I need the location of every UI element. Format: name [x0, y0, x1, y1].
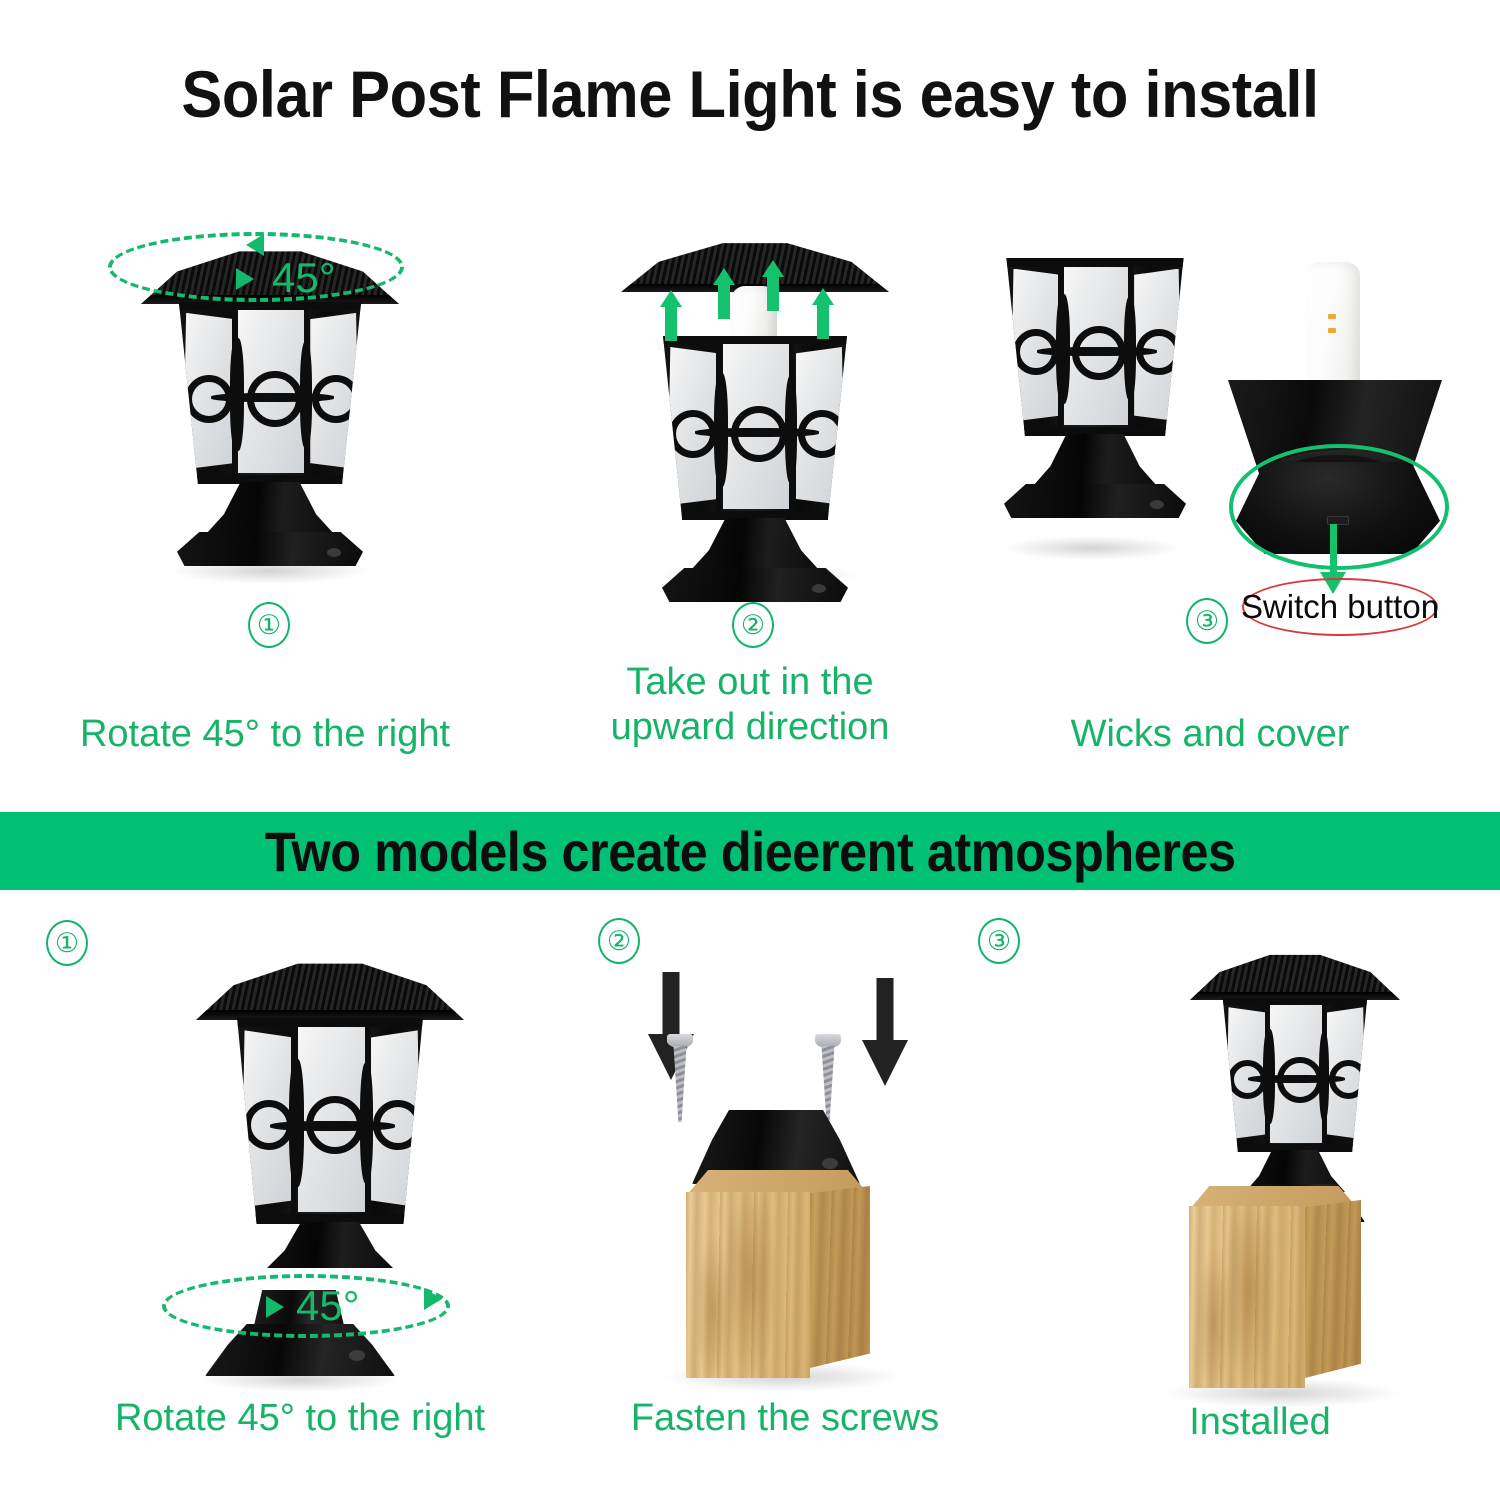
- post-side-face-inst: [1305, 1200, 1361, 1378]
- rotation-degree-label-step1: 45°: [272, 254, 336, 302]
- lamp-neck: [206, 482, 334, 534]
- wood-post-installed: [1175, 1168, 1395, 1398]
- ornament-crossbar-inst: [1248, 1075, 1345, 1083]
- lamp-shadow-3: [1002, 536, 1182, 560]
- screw-head-left: [667, 1034, 693, 1048]
- step-number-1: ①: [248, 602, 290, 648]
- lamp-roof-installed: [1190, 952, 1400, 1000]
- screw-head-right: [815, 1034, 841, 1048]
- lamp-foot: [177, 532, 363, 566]
- led-wick-1: [1328, 314, 1336, 319]
- lamp-roof-detached: [621, 240, 889, 292]
- section-banner: Two models create dieerent atmospheres: [0, 812, 1500, 890]
- mullion-top-inst: [1218, 998, 1373, 1005]
- ornament-crossbar-s2: [270, 1121, 395, 1131]
- lamp-foot-2: [662, 568, 848, 602]
- rotation-arrow-right-s2: [266, 1296, 284, 1318]
- mullion-top-s2: [231, 1018, 430, 1027]
- rotation-arrow-tip-s2: [424, 1288, 442, 1310]
- post-side-face: [810, 1186, 870, 1368]
- ornament-crossbar-2: [695, 428, 819, 437]
- switch-callout-ellipse: Switch button: [1242, 578, 1438, 636]
- led-wick-2: [1328, 328, 1336, 333]
- lamp-section2-step1: [165, 960, 495, 1290]
- mullion-top: [172, 302, 367, 310]
- foot-screw-hole-2: [812, 584, 826, 593]
- switch-callout-arrow-shaft: [1330, 524, 1337, 576]
- step-number-2: ②: [732, 602, 774, 648]
- ornament-crossbar: [211, 393, 334, 402]
- rotation-arrow-right-step1: [236, 268, 254, 290]
- step-caption-1: Rotate 45° to the right: [40, 712, 490, 757]
- page-title: Solar Post Flame Light is easy to instal…: [53, 56, 1448, 132]
- lamp-body-installed: [1211, 998, 1379, 1152]
- step-number-3: ③: [1186, 598, 1228, 644]
- ornament-crossbar-3: [1037, 347, 1156, 356]
- lamp-step3-body: [970, 258, 1220, 558]
- wood-post-step2: [672, 1110, 892, 1380]
- down-arrow-right: [862, 978, 908, 1088]
- step-caption-2: Take out in the upward direction: [540, 660, 960, 750]
- post-front-face-inst: [1189, 1206, 1305, 1388]
- step2-caption-2: Fasten the screws: [590, 1396, 980, 1441]
- lamp-body-s2: [222, 1018, 438, 1224]
- lamp-roof-s2: [196, 960, 464, 1020]
- rotation-arrow-left-step1: [246, 234, 264, 256]
- step2-number-3: ③: [978, 918, 1020, 964]
- lamp-step2: [600, 240, 910, 585]
- rotation-degree-label-s2: 45°: [296, 1282, 360, 1330]
- base-screw-hole: [349, 1350, 365, 1361]
- step2-number-2: ②: [598, 918, 640, 964]
- lamp-neck-3: [1033, 434, 1157, 486]
- lamp-neck-2: [691, 518, 819, 570]
- foot-screw-hole-3: [1150, 500, 1164, 509]
- mount-base-hole: [822, 1158, 838, 1169]
- step-caption-3: Wicks and cover: [1020, 712, 1400, 757]
- post-front-face: [686, 1192, 810, 1378]
- lamp-foot-3: [1004, 484, 1186, 518]
- lamp-body-3: [992, 258, 1198, 436]
- step2-caption-3: Installed: [1100, 1400, 1420, 1445]
- step2-caption-1: Rotate 45° to the right: [75, 1396, 525, 1441]
- switch-callout-label: Switch button: [1241, 588, 1439, 626]
- lamp-neck-s2: [267, 1222, 393, 1268]
- lamp-body-2: [648, 336, 862, 520]
- lamp-body: [164, 302, 376, 484]
- banner-title: Two models create dieerent atmospheres: [265, 819, 1236, 884]
- mullion-top-3: [1000, 258, 1190, 267]
- foot-screw-hole: [327, 548, 341, 557]
- step2-number-1: ①: [46, 920, 88, 966]
- switch-highlight-ellipse: [1229, 444, 1449, 570]
